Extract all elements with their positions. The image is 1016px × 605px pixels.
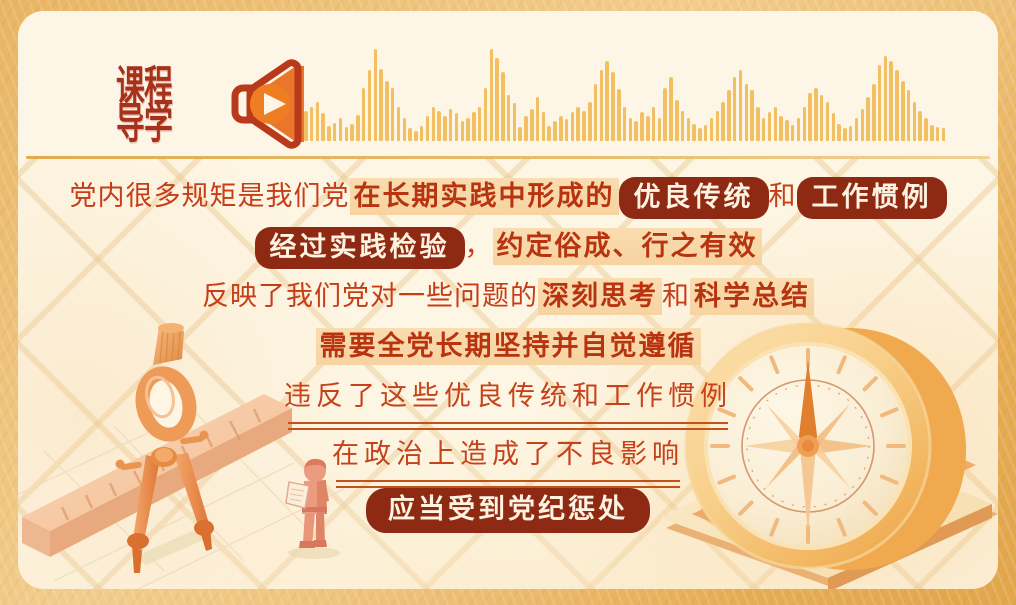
waveform-bar (913, 102, 917, 141)
waveform-bar (692, 124, 696, 141)
waveform-bar (455, 113, 459, 141)
text-line-2: 经过实践检验，约定俗成、行之有效 (18, 221, 998, 271)
waveform-bar (750, 90, 754, 141)
waveform-bar (785, 120, 789, 141)
waveform-bar (623, 107, 627, 142)
waveform-bar (704, 125, 708, 141)
waveform-bar (385, 81, 389, 141)
line-3-runs: 反映了我们党对一些问题的深刻思考和科学总结 (202, 278, 814, 315)
waveform-bar (379, 69, 383, 141)
waveform-bar (426, 116, 430, 141)
waveform-bar (600, 70, 604, 141)
waveform-bar (571, 112, 575, 141)
emphasis-badge: 经过实践检验 (255, 227, 465, 270)
waveform-bar (716, 111, 720, 141)
waveform-bar (466, 118, 470, 141)
waveform-bar (611, 72, 615, 141)
waveform-bar (461, 121, 465, 141)
waveform-bar (866, 97, 870, 141)
waveform-bar (472, 112, 476, 141)
waveform-bar (391, 88, 395, 141)
waveform-bar (484, 88, 488, 141)
waveform-bar (681, 111, 685, 141)
plain-phrase: 党内很多规矩是我们党 (70, 181, 350, 211)
line-2-runs: 经过实践检验，约定俗成、行之有效 (255, 231, 762, 261)
text-line-4: 需要全党长期坚持并自觉遵循 (18, 321, 998, 371)
waveform-bar (872, 84, 876, 142)
waveform-bar (687, 118, 691, 141)
plain-phrase: 反映了我们党对一些问题的 (202, 281, 538, 311)
waveform-bar (710, 118, 714, 141)
highlighted-phrase: 深刻思考 (538, 278, 662, 315)
text-line-5: 违反了这些优良传统和工作惯例 (18, 371, 998, 429)
audio-waveform (304, 41, 946, 141)
waveform-bar (617, 89, 621, 141)
megaphone-icon (230, 58, 314, 150)
waveform-bar (797, 118, 801, 141)
waveform-bar (768, 112, 772, 141)
waveform-bar (368, 70, 372, 141)
text-line-3: 反映了我们党对一些问题的深刻思考和科学总结 (18, 271, 998, 321)
waveform-bar (310, 107, 314, 142)
waveform-bar (536, 97, 540, 141)
waveform-bar (420, 126, 424, 141)
waveform-bar (594, 84, 598, 142)
waveform-bar (403, 118, 407, 141)
header-divider (26, 156, 990, 159)
waveform-bar (443, 116, 447, 141)
waveform-bar (803, 107, 807, 142)
waveform-bar (652, 107, 656, 142)
line-4-runs: 需要全党长期坚持并自觉遵循 (316, 328, 701, 365)
waveform-bar (513, 103, 517, 141)
waveform-bar (727, 90, 731, 141)
waveform-bar (861, 109, 865, 141)
waveform-bar (350, 124, 354, 141)
waveform-bar (646, 116, 650, 141)
waveform-bar (878, 65, 882, 141)
content-card: 课程 导学 党内很多规矩是我们党在长期实践中形成的优良传统和工作惯例 (18, 11, 998, 589)
emphasis-badge: 优良传统 (619, 177, 769, 220)
waveform-bar (559, 116, 563, 141)
text-line-6: 在政治上造成了不良影响 (18, 429, 998, 487)
waveform-bar (779, 116, 783, 141)
course-guide-logo: 课程 导学 (116, 61, 220, 151)
waveform-bar (327, 126, 331, 141)
plain-phrase: 和 (769, 181, 797, 211)
waveform-bar (629, 118, 633, 141)
waveform-bar (542, 112, 546, 141)
text-line-7: 应当受到党纪惩处 (18, 489, 998, 541)
waveform-bar (333, 123, 337, 141)
waveform-bar (501, 72, 505, 141)
waveform-bar (675, 100, 679, 141)
waveform-bar (721, 102, 725, 141)
waveform-bar (855, 118, 859, 141)
waveform-bar (924, 118, 928, 141)
waveform-bar (414, 131, 418, 141)
highlighted-phrase: 约定俗成、行之有效 (493, 228, 762, 265)
waveform-bar (339, 118, 343, 141)
waveform-bar (490, 49, 494, 141)
waveform-bar (321, 113, 325, 141)
waveform-bar (356, 115, 360, 141)
waveform-bar (774, 107, 778, 142)
waveform-bar (495, 58, 499, 141)
waveform-bar (936, 127, 940, 141)
waveform-bar (820, 95, 824, 141)
waveform-bar (669, 77, 673, 141)
waveform-bar (634, 121, 638, 141)
waveform-bar (843, 128, 847, 141)
waveform-bar (733, 77, 737, 141)
plain-phrase: ， (465, 231, 493, 261)
waveform-bar (530, 109, 534, 141)
waveform-bar (304, 111, 308, 141)
waveform-bar (397, 107, 401, 142)
line-5-text: 违反了这些优良传统和工作惯例 (284, 371, 732, 430)
emphasis-badge: 工作惯例 (797, 177, 947, 220)
waveform-bar (814, 88, 818, 141)
waveform-bar (756, 107, 760, 142)
waveform-bar (408, 128, 412, 141)
waveform-bar (478, 107, 482, 142)
quote-text-block: 党内很多规矩是我们党在长期实践中形成的优良传统和工作惯例 经过实践检验，约定俗成… (18, 171, 998, 541)
waveform-bar (745, 84, 749, 142)
highlighted-phrase: 在长期实践中形成的 (350, 178, 619, 215)
waveform-bar (362, 88, 366, 141)
waveform-bar (762, 118, 766, 141)
highlighted-phrase: 需要全党长期坚持并自觉遵循 (316, 328, 701, 365)
waveform-bar (374, 49, 378, 141)
poster-root: 课程 导学 党内很多规矩是我们党在长期实践中形成的优良传统和工作惯例 (0, 0, 1016, 605)
waveform-bar (432, 107, 436, 142)
waveform-bar (930, 125, 934, 141)
waveform-bar (640, 112, 644, 141)
text-line-1: 党内很多规矩是我们党在长期实践中形成的优良传统和工作惯例 (18, 171, 998, 221)
waveform-bar (663, 88, 667, 141)
waveform-bar (832, 113, 836, 141)
waveform-bar (884, 56, 888, 141)
waveform-bar (449, 109, 453, 141)
waveform-bar (524, 116, 528, 141)
waveform-bar (605, 61, 609, 142)
header-bar: 课程 导学 (18, 11, 998, 159)
waveform-bar (837, 124, 841, 141)
line-6-text: 在政治上造成了不良影响 (332, 429, 684, 488)
waveform-bar (582, 111, 586, 141)
waveform-bar (849, 126, 853, 141)
waveform-bar (316, 102, 320, 141)
waveform-bar (576, 107, 580, 142)
waveform-bar (547, 126, 551, 141)
waveform-bar (826, 102, 830, 141)
waveform-bar (739, 70, 743, 141)
waveform-bar (808, 93, 812, 141)
waveform-bar (437, 111, 441, 141)
waveform-bar (942, 128, 946, 141)
waveform-bar (658, 118, 662, 141)
penalty-badge: 应当受到党纪惩处 (366, 488, 650, 533)
waveform-bar (895, 70, 899, 141)
waveform-bar (698, 128, 702, 141)
waveform-bar (565, 119, 569, 141)
waveform-bar (907, 90, 911, 141)
waveform-bar (889, 61, 893, 142)
line-1-runs: 党内很多规矩是我们党在长期实践中形成的优良传统和工作惯例 (70, 181, 947, 211)
waveform-bar (791, 125, 795, 141)
waveform-bar (901, 81, 905, 141)
highlighted-phrase: 科学总结 (690, 278, 814, 315)
plain-phrase: 和 (662, 281, 690, 311)
waveform-bar (553, 121, 557, 141)
waveform-bar (507, 95, 511, 141)
waveform-bar (588, 102, 592, 141)
waveform-bar (518, 127, 522, 141)
waveform-bar (345, 127, 349, 141)
logo-line-2: 导学 (116, 104, 199, 145)
waveform-bar (918, 111, 922, 141)
